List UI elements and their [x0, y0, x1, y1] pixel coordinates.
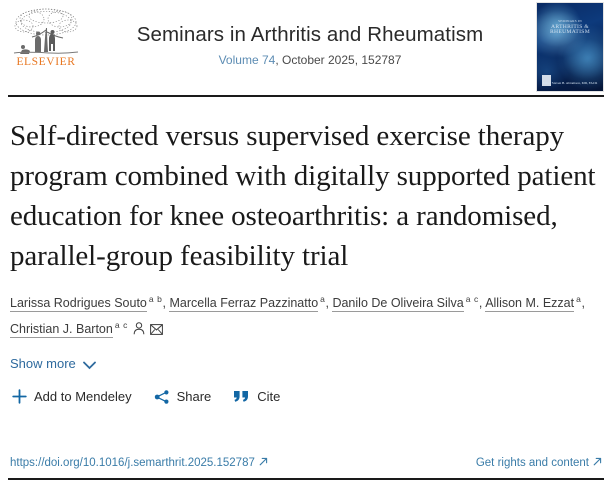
external-link-arrow-icon: [259, 457, 268, 469]
masthead: ELSEVIER Seminars in Arthritis and Rheum…: [0, 0, 612, 96]
author-entry: Danilo De Oliveira Silvaa c: [332, 296, 478, 310]
doi-text: https://doi.org/10.1016/j.semarthrit.202…: [10, 457, 255, 469]
author-name[interactable]: Allison M. Ezzat: [485, 296, 574, 312]
author-separator: ,: [325, 296, 328, 310]
author-entry: Larissa Rodrigues Soutoa b: [10, 296, 163, 310]
cover-title-text: Seminars in ARTHRITIS & RHEUMATISM: [537, 19, 603, 35]
volume-link[interactable]: Volume 74: [219, 53, 276, 67]
author-name[interactable]: Larissa Rodrigues Souto: [10, 296, 147, 312]
show-more-button[interactable]: Show more: [10, 356, 94, 371]
author-entry: Allison M. Ezzata: [485, 296, 581, 310]
cite-button[interactable]: Cite: [233, 389, 280, 404]
footer-divider: [8, 478, 604, 480]
author-name[interactable]: Marcella Ferraz Pazzinatto: [169, 296, 318, 312]
plus-icon: [12, 389, 27, 404]
journal-issue-meta: Volume 74, October 2025, 152787: [110, 53, 510, 68]
author-entry: Marcella Ferraz Pazzinattoa: [169, 296, 325, 310]
chevron-down-icon: [83, 358, 94, 369]
author-affiliation-marks: a b: [149, 294, 163, 304]
page-title: Self-directed versus supervised exercise…: [0, 96, 612, 276]
share-nodes-icon: [154, 390, 170, 404]
author-separator: ,: [163, 296, 166, 310]
elsevier-wordmark[interactable]: ELSEVIER: [10, 56, 82, 68]
author-separator: ,: [581, 296, 584, 310]
article-header-page: ELSEVIER Seminars in Arthritis and Rheum…: [0, 0, 612, 491]
envelope-icon[interactable]: [150, 320, 163, 342]
author-list: Larissa Rodrigues Soutoa b, Marcella Fer…: [0, 276, 612, 342]
issue-meta-text: , October 2025, 152787: [275, 53, 401, 67]
masthead-divider: [8, 95, 604, 97]
article-action-bar: Add to Mendeley Share Cite: [12, 389, 612, 404]
journal-cover-thumbnail[interactable]: Seminars in ARTHRITIS & RHEUMATISM Edito…: [536, 2, 604, 92]
author-name[interactable]: Christian J. Barton: [10, 322, 113, 338]
external-link-arrow-icon: [593, 457, 602, 469]
author-name[interactable]: Danilo De Oliveira Silva: [332, 296, 463, 312]
author-affiliation-marks: a c: [115, 320, 128, 330]
doi-link[interactable]: https://doi.org/10.1016/j.semarthrit.202…: [10, 457, 268, 469]
cover-editor-text: Editor Steven B. Abramson, MD, FACR: [537, 81, 603, 86]
cover-decoration-2: [563, 39, 604, 79]
cover-caption-big: ARTHRITIS & RHEUMATISM: [537, 25, 603, 35]
author-affiliation-marks: a c: [466, 294, 479, 304]
rights-label: Get rights and content: [476, 457, 589, 469]
person-icon[interactable]: [133, 320, 145, 342]
share-button[interactable]: Share: [154, 389, 212, 404]
quote-icon: [233, 390, 250, 403]
journal-title: Seminars in Arthritis and Rheumatism: [110, 22, 510, 48]
author-separator: ,: [479, 296, 482, 310]
add-to-mendeley-button[interactable]: Add to Mendeley: [12, 389, 132, 404]
cite-label: Cite: [257, 389, 280, 404]
cover-caption-small: Seminars in: [558, 19, 582, 23]
journal-info: Seminars in Arthritis and Rheumatism Vol…: [110, 22, 510, 68]
footer-links: https://doi.org/10.1016/j.semarthrit.202…: [10, 457, 602, 469]
show-more-label: Show more: [10, 356, 76, 371]
share-label: Share: [177, 389, 212, 404]
get-rights-and-content-link[interactable]: Get rights and content: [476, 457, 602, 469]
author-entry: Christian J. Bartona c: [10, 322, 128, 336]
add-to-mendeley-label: Add to Mendeley: [34, 389, 132, 404]
